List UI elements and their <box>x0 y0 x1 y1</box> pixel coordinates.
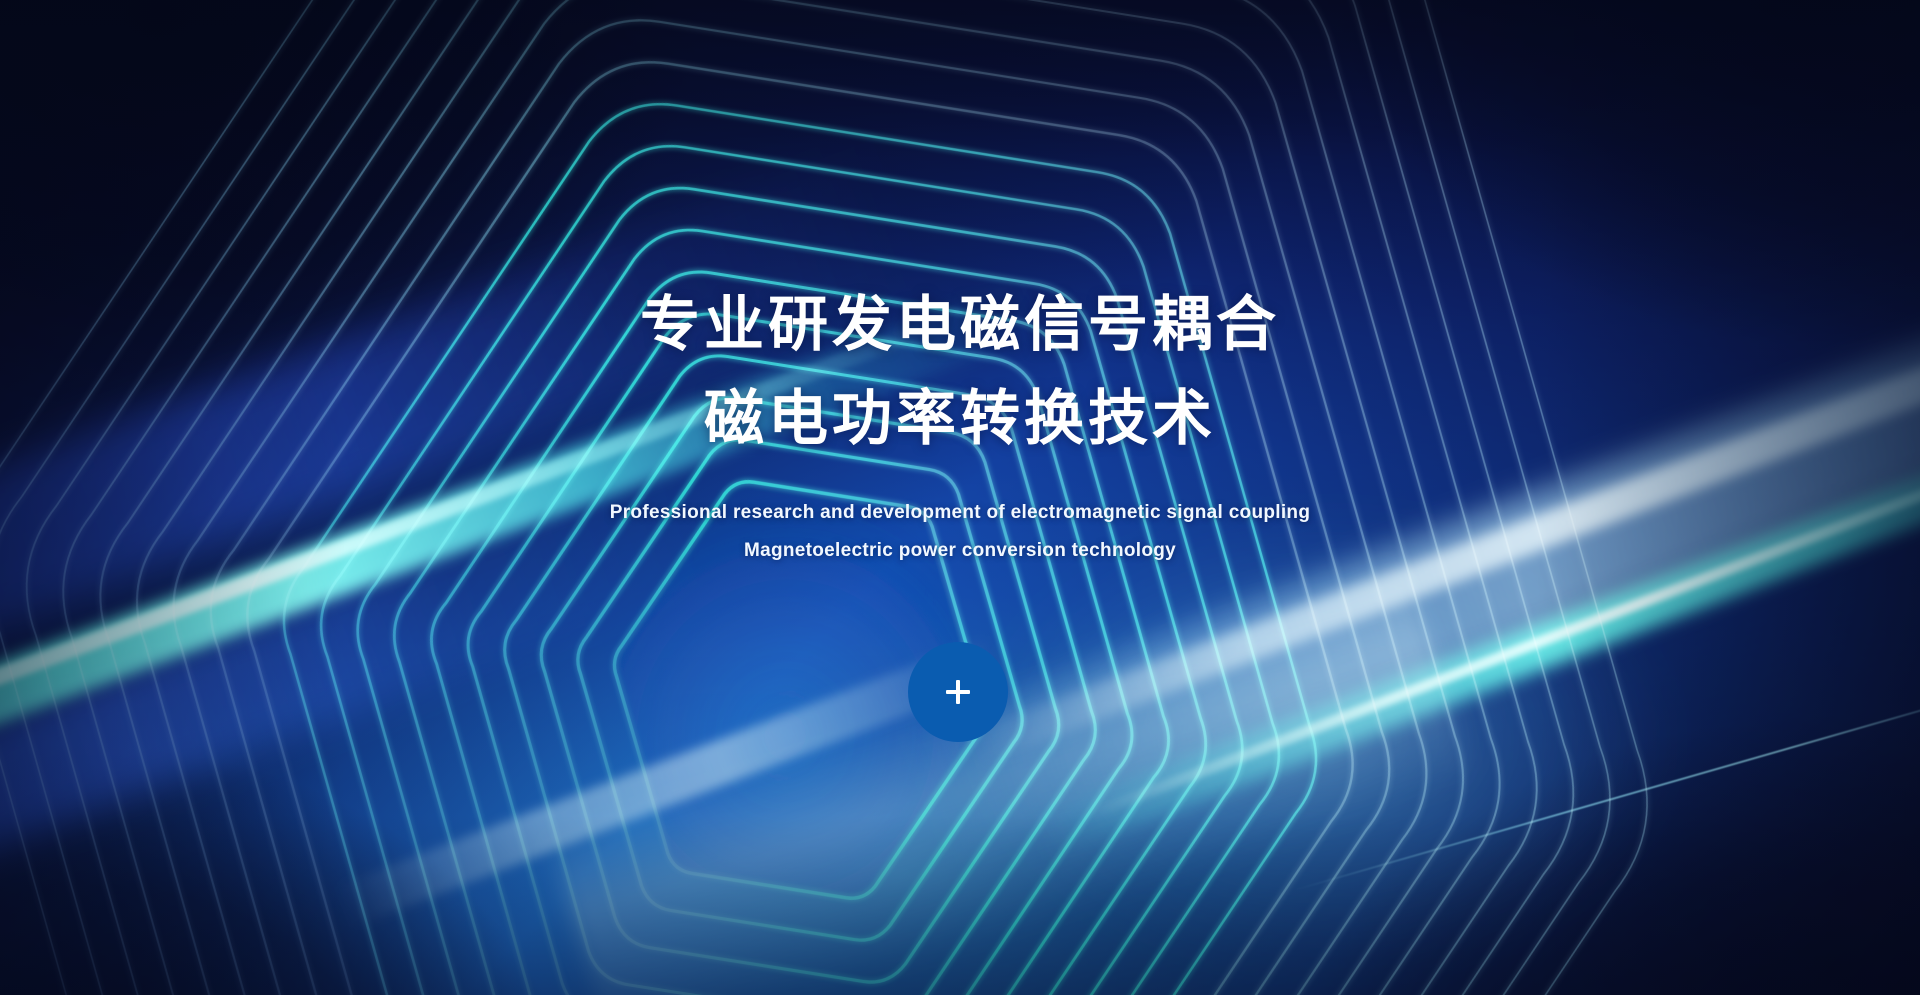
banner-heading: 专业研发电磁信号耦合 磁电功率转换技术 <box>0 278 1920 466</box>
subtitle-line-2: Magnetoelectric power conversion technol… <box>0 532 1920 570</box>
add-plus-button[interactable] <box>908 642 1008 742</box>
title-line-2: 磁电功率转换技术 <box>0 372 1920 466</box>
banner-subheading: Professional research and development of… <box>0 494 1920 570</box>
title-line-1: 专业研发电磁信号耦合 <box>0 278 1920 372</box>
plus-icon <box>945 679 971 705</box>
hero-banner: 专业研发电磁信号耦合 磁电功率转换技术 Professional researc… <box>0 0 1920 995</box>
subtitle-line-1: Professional research and development of… <box>0 494 1920 532</box>
banner-content: 专业研发电磁信号耦合 磁电功率转换技术 Professional researc… <box>0 0 1920 995</box>
